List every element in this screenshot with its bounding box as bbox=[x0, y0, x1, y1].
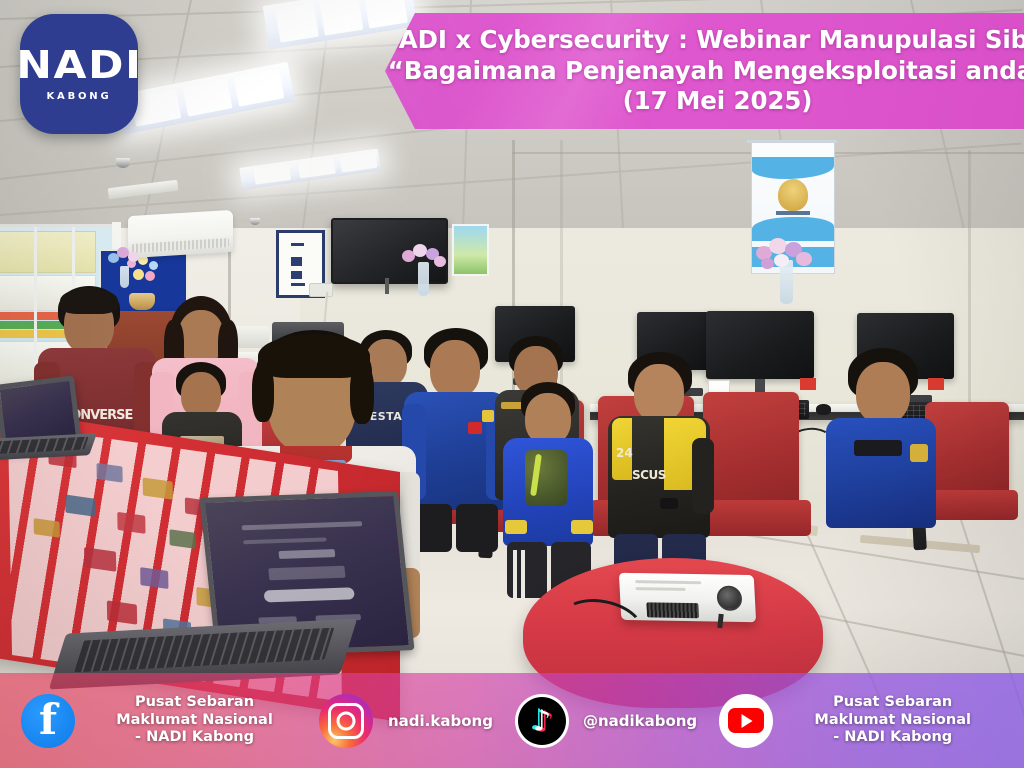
instagram-handle: nadi.kabong bbox=[388, 712, 493, 730]
facebook-label-line2: - NADI Kabong bbox=[92, 729, 297, 746]
banner-title: NADI x Cybersecurity : Webinar Manupulas… bbox=[352, 25, 1024, 116]
title-line-3: (17 Mei 2025) bbox=[378, 86, 1024, 116]
social-youtube[interactable]: Pusat Sebaran Maklumat Nasional - NADI K… bbox=[719, 694, 995, 748]
social-tiktok[interactable]: ♪ ♪ ♪ @nadikabong bbox=[515, 694, 697, 748]
poster-root: CONVERSE ESTA bbox=[0, 0, 1024, 768]
monitor bbox=[706, 311, 814, 379]
facebook-label-line1: Pusat Sebaran Maklumat Nasional bbox=[92, 694, 297, 729]
flower-arrangement bbox=[752, 236, 816, 274]
projector-lens bbox=[716, 585, 742, 610]
person-yellow-black-jersey: 24 SCUS bbox=[608, 352, 712, 562]
facebook-glyph: f bbox=[39, 699, 57, 741]
title-line-1: NADI x Cybersecurity : Webinar Manupulas… bbox=[378, 25, 1024, 55]
tiktok-note-icon: ♪ bbox=[533, 706, 552, 735]
red-label bbox=[800, 378, 816, 390]
laptop-secondary bbox=[0, 380, 96, 480]
youtube-icon[interactable] bbox=[719, 694, 773, 748]
wall-socket bbox=[309, 283, 333, 297]
instagram-lens-icon bbox=[337, 711, 356, 730]
flower-arrangement bbox=[400, 242, 448, 270]
title-line-2: “Bagaimana Penjenayah Mengeksploitasi an… bbox=[378, 56, 1024, 86]
nadi-logo: NADI KABONG bbox=[20, 14, 138, 134]
youtube-label-line2: - NADI Kabong bbox=[790, 729, 995, 746]
security-camera-icon bbox=[116, 158, 130, 168]
person-right-blue-shirt bbox=[826, 348, 938, 528]
social-facebook[interactable]: f Pusat Sebaran Maklumat Nasional - NADI… bbox=[21, 694, 297, 748]
laptop-main[interactable] bbox=[60, 498, 350, 680]
tiktok-circle: ♪ ♪ ♪ bbox=[518, 697, 566, 745]
youtube-play-icon bbox=[741, 714, 752, 728]
logo-location: KABONG bbox=[47, 91, 112, 102]
wall-poster-small bbox=[452, 224, 489, 276]
flower-arrangement bbox=[106, 247, 146, 271]
projector bbox=[619, 573, 756, 622]
tiktok-icon[interactable]: ♪ ♪ ♪ bbox=[515, 694, 569, 748]
instagram-icon[interactable] bbox=[319, 694, 373, 748]
projector-vent bbox=[646, 602, 699, 618]
logo-wordmark: NADI bbox=[16, 46, 142, 84]
tv-bracket bbox=[385, 278, 389, 294]
chair bbox=[703, 392, 799, 512]
tiktok-handle: @nadikabong bbox=[583, 712, 697, 730]
facebook-icon[interactable]: f bbox=[21, 694, 75, 748]
title-banner: NADI x Cybersecurity : Webinar Manupulas… bbox=[385, 13, 1024, 129]
youtube-body-icon bbox=[728, 708, 764, 733]
person-blue-tracksuit bbox=[503, 382, 595, 572]
security-camera-icon bbox=[250, 218, 260, 225]
social-instagram[interactable]: nadi.kabong bbox=[319, 694, 493, 748]
social-footer: f Pusat Sebaran Maklumat Nasional - NADI… bbox=[0, 673, 1024, 768]
wall-chart bbox=[0, 231, 96, 273]
youtube-label-line1: Pusat Sebaran Maklumat Nasional bbox=[790, 694, 995, 729]
